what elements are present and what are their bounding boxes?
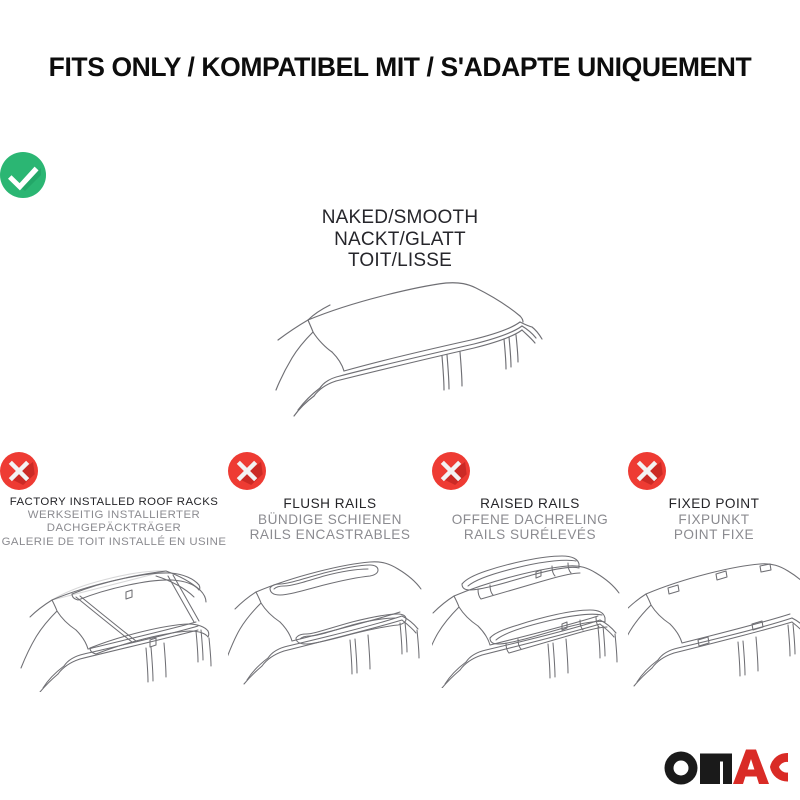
fixed-point-label-de: FIXPUNKT	[628, 512, 800, 528]
raised-rails-label-fr: RAILS SURÉLEVÉS	[432, 527, 628, 543]
red-cross-circle-icon	[432, 452, 628, 490]
fixed-point-labels: FIXED POINT FIXPUNKT POINT FIXE	[628, 496, 800, 543]
compatible-labels: NAKED/SMOOTH NACKT/GLATT TOIT/LISSE	[0, 207, 800, 272]
car-roof-raised-rails-illustration	[432, 544, 628, 688]
fixed-point-label-en: FIXED POINT	[628, 496, 800, 512]
incompatible-roof-types-row: FACTORY INSTALLED ROOF RACKS WERKSEITIG …	[0, 452, 800, 702]
flush-rails-label-fr: RAILS ENCASTRABLES	[228, 527, 432, 543]
green-check-circle-icon	[0, 152, 800, 198]
incompatible-item-flush-rails: FLUSH RAILS BÜNDIGE SCHIENEN RAILS ENCAS…	[228, 452, 432, 543]
car-roof-naked-smooth-illustration	[246, 272, 586, 432]
car-roof-factory-rack-illustration	[0, 552, 228, 692]
flush-rails-labels: FLUSH RAILS BÜNDIGE SCHIENEN RAILS ENCAS…	[228, 496, 432, 543]
compatible-label-en: NAKED/SMOOTH	[0, 207, 800, 229]
raised-rails-label-en: RAISED RAILS	[432, 496, 628, 512]
car-roof-fixed-point-illustration	[628, 544, 800, 688]
factory-rack-label-de2: DACHGEPÄCKTRÄGER	[0, 522, 228, 535]
factory-rack-labels: FACTORY INSTALLED ROOF RACKS WERKSEITIG …	[0, 496, 228, 549]
incompatible-item-raised-rails: RAISED RAILS OFFENE DACHRELING RAILS SUR…	[432, 452, 628, 543]
red-cross-circle-icon	[628, 452, 800, 490]
incompatible-item-fixed-point: FIXED POINT FIXPUNKT POINT FIXE	[628, 452, 800, 543]
raised-rails-label-de: OFFENE DACHRELING	[432, 512, 628, 528]
compatible-roof-block: NAKED/SMOOTH NACKT/GLATT TOIT/LISSE	[0, 152, 800, 272]
car-roof-flush-rails-illustration	[228, 548, 432, 688]
incompatible-item-factory-installed-roof-racks: FACTORY INSTALLED ROOF RACKS WERKSEITIG …	[0, 452, 228, 549]
compatible-label-de: NACKT/GLATT	[0, 229, 800, 251]
factory-rack-label-fr: GALERIE DE TOIT INSTALLÉ EN USINE	[0, 536, 228, 549]
red-cross-circle-icon	[0, 452, 228, 490]
flush-rails-label-en: FLUSH RAILS	[228, 496, 432, 512]
red-cross-circle-icon	[228, 452, 432, 490]
flush-rails-label-de: BÜNDIGE SCHIENEN	[228, 512, 432, 528]
page-title: FITS ONLY / KOMPATIBEL MIT / S'ADAPTE UN…	[0, 52, 800, 83]
factory-rack-label-de1: WERKSEITIG INSTALLIERTER	[0, 509, 228, 522]
fixed-point-label-fr: POINT FIXE	[628, 527, 800, 543]
omac-logo	[662, 747, 788, 787]
compatible-label-fr: TOIT/LISSE	[0, 250, 800, 272]
raised-rails-labels: RAISED RAILS OFFENE DACHRELING RAILS SUR…	[432, 496, 628, 543]
factory-rack-label-en: FACTORY INSTALLED ROOF RACKS	[0, 496, 228, 509]
